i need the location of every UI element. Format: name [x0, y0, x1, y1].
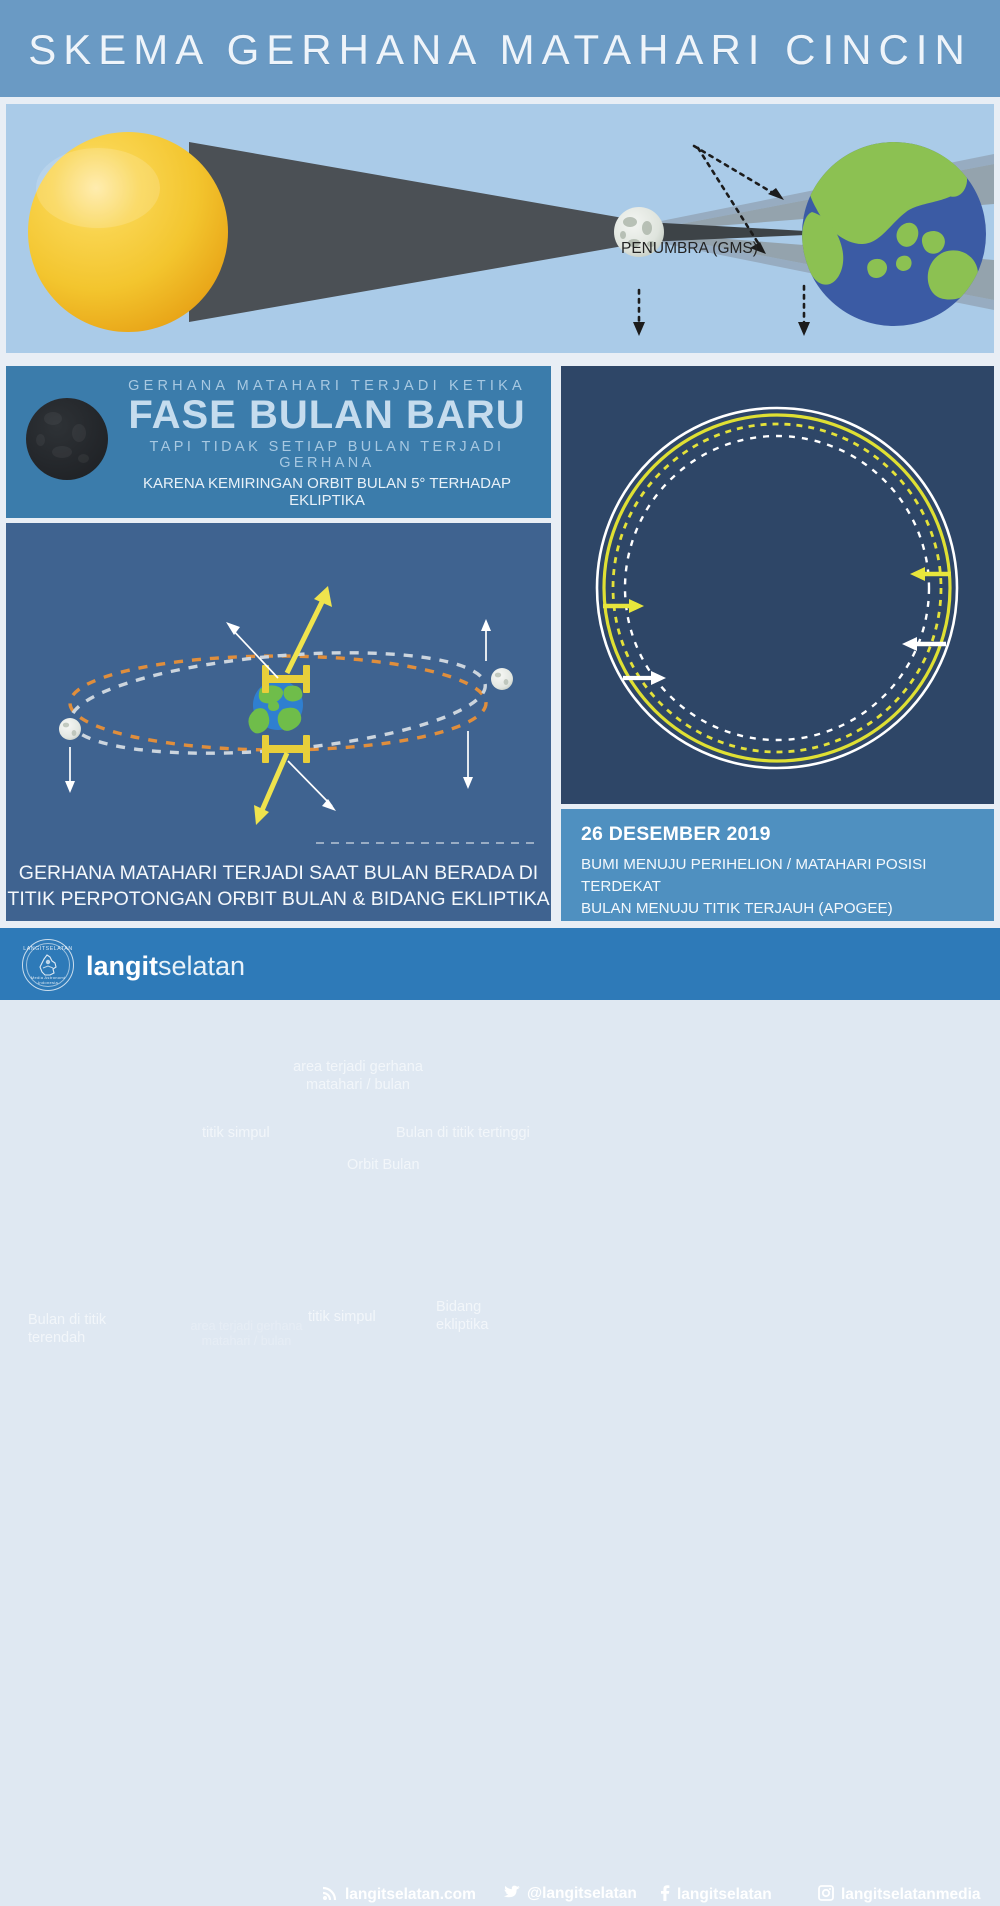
label-node-bottom: titik simpul [308, 1309, 376, 1327]
footer-link-website-label: langitselatan.com [345, 1886, 476, 1903]
event-date-box: 26 DESEMBER 2019 BUMI MENUJU PERIHELION … [561, 809, 994, 921]
rings-svg [561, 366, 994, 804]
footer-link-twitter-label: @langitselatan [527, 1885, 637, 1902]
label-moon-lowest: Bulan di titik terendah [28, 1312, 138, 1347]
rings-arrows [603, 567, 951, 685]
phase-line1: GERHANA MATAHARI TERJADI KETIKA [112, 378, 542, 394]
label-eclipse-area-top: area terjadi gerhana matahari / bulan [268, 1059, 448, 1094]
ring-moon-farthest [625, 436, 929, 740]
event-details: BUMI MENUJU PERIHELION / MATAHARI POSISI… [581, 854, 994, 920]
seal-bottom-text: Media Astronomi Indonesia [23, 975, 73, 985]
footer-link-twitter[interactable]: @langitselatan [503, 1885, 637, 1905]
header-bar: SKEMA GERHANA MATAHARI CINCIN [0, 0, 1000, 97]
ring-moon-nearest [613, 424, 941, 752]
event-date: 26 DESEMBER 2019 [581, 823, 771, 846]
new-moon-phase-banner: GERHANA MATAHARI TERJADI KETIKA FASE BUL… [6, 366, 551, 518]
phase-line3: TAPI TIDAK SETIAP BULAN TERJADI GERHANA [112, 439, 542, 471]
rss-icon [322, 1885, 338, 1906]
langitselatan-seal-logo: LANGITSELATAN Media Astronomi Indonesia [22, 939, 74, 991]
sun-icon [28, 132, 228, 332]
footer-link-facebook-label: langitselatan [677, 1886, 772, 1903]
instagram-icon [818, 1885, 834, 1906]
footer-link-facebook[interactable]: langitselatan [660, 1885, 772, 1906]
footer-link-website[interactable]: langitselatan.com [322, 1885, 476, 1906]
orbit-nodes-diagram-panel: area terjadi gerhana matahari / bulan ti… [6, 523, 551, 921]
label-penumbra: PENUMBRA (GMS) [621, 240, 758, 258]
label-moon-orbit: Orbit Bulan [347, 1157, 420, 1175]
eclipse-geometry-diagram: PENUMBRA (GMS) UMBRA (GMT) ANTUMBRA (GMC… [6, 104, 994, 353]
moon-low-icon [59, 718, 81, 740]
footer-link-instagram[interactable]: langitselatanmedia [818, 1885, 981, 1906]
infographic-page: SKEMA GERHANA MATAHARI CINCIN [0, 0, 1000, 1000]
knight-horse-icon [36, 954, 60, 976]
ring-sun-nearest [597, 408, 957, 768]
page-title: SKEMA GERHANA MATAHARI CINCIN [0, 26, 1000, 74]
label-ecliptic-plane: Bidang ekliptika [436, 1299, 516, 1334]
label-eclipse-area-bottom: area terjadi gerhana matahari / bulan [184, 1319, 309, 1350]
phase-line4: KARENA KEMIRINGAN ORBIT BULAN 5° TERHADA… [112, 475, 542, 509]
eclipse-geometry-svg [6, 104, 994, 353]
ring-sun-farthest [604, 415, 950, 761]
umbra-cone [189, 142, 806, 322]
brand-wordmark: langitselatan [86, 951, 245, 982]
footer-bar: LANGITSELATAN Media Astronomi Indonesia … [0, 928, 1000, 1000]
brand-bold: langit [86, 951, 158, 981]
facebook-icon [660, 1885, 670, 1906]
new-moon-icon [26, 398, 108, 480]
apparent-size-rings-panel: Variasi ukuran kenampakan piringan Matah… [561, 366, 994, 804]
twitter-icon [503, 1885, 520, 1905]
orbit-panel-caption: GERHANA MATAHARI TERJADI SAAT BULAN BERA… [6, 860, 551, 913]
label-node-top: titik simpul [202, 1125, 270, 1143]
footer-link-instagram-label: langitselatanmedia [841, 1886, 981, 1903]
phase-line2-headline: FASE BULAN BARU [112, 395, 542, 436]
moon-high-icon [491, 668, 513, 690]
earth-icon-small [248, 680, 303, 733]
brand-light: selatan [158, 951, 245, 981]
label-moon-highest: Bulan di titik tertinggi [396, 1125, 530, 1143]
seal-top-text: LANGITSELATAN [23, 946, 73, 952]
phase-text-block: GERHANA MATAHARI TERJADI KETIKA FASE BUL… [112, 378, 542, 509]
